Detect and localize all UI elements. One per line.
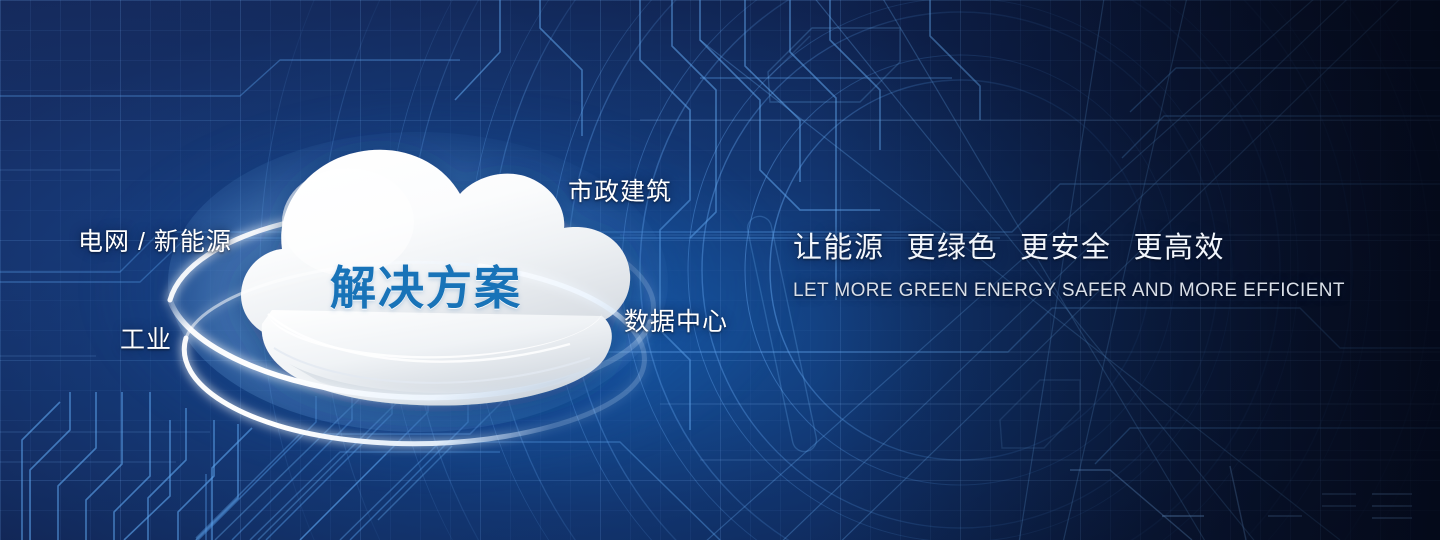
label-grid-new-energy: 电网 / 新能源: [78, 222, 232, 258]
slogan-chinese: 让能源更绿色更安全更高效: [793, 224, 1353, 266]
solution-banner: 电网 / 新能源 工业 市政建筑 数据中心 解决方案 让能源更绿色更安全更高效 …: [0, 0, 1440, 540]
label-industry: 工业: [120, 320, 172, 356]
slogan-part-4: 更高效: [1134, 232, 1226, 264]
slogan-block: 让能源更绿色更安全更高效 LET MORE GREEN ENERGY SAFER…: [793, 224, 1353, 302]
label-municipal-building: 市政建筑: [568, 172, 672, 208]
slogan-english: LET MORE GREEN ENERGY SAFER AND MORE EFF…: [793, 280, 1353, 302]
slogan-part-3: 更安全: [1020, 232, 1112, 264]
label-data-center: 数据中心: [624, 302, 728, 338]
cloud-title-solution: 解决方案: [330, 252, 522, 318]
slogan-part-2: 更绿色: [907, 232, 999, 264]
slogan-part-1: 让能源: [793, 232, 885, 264]
